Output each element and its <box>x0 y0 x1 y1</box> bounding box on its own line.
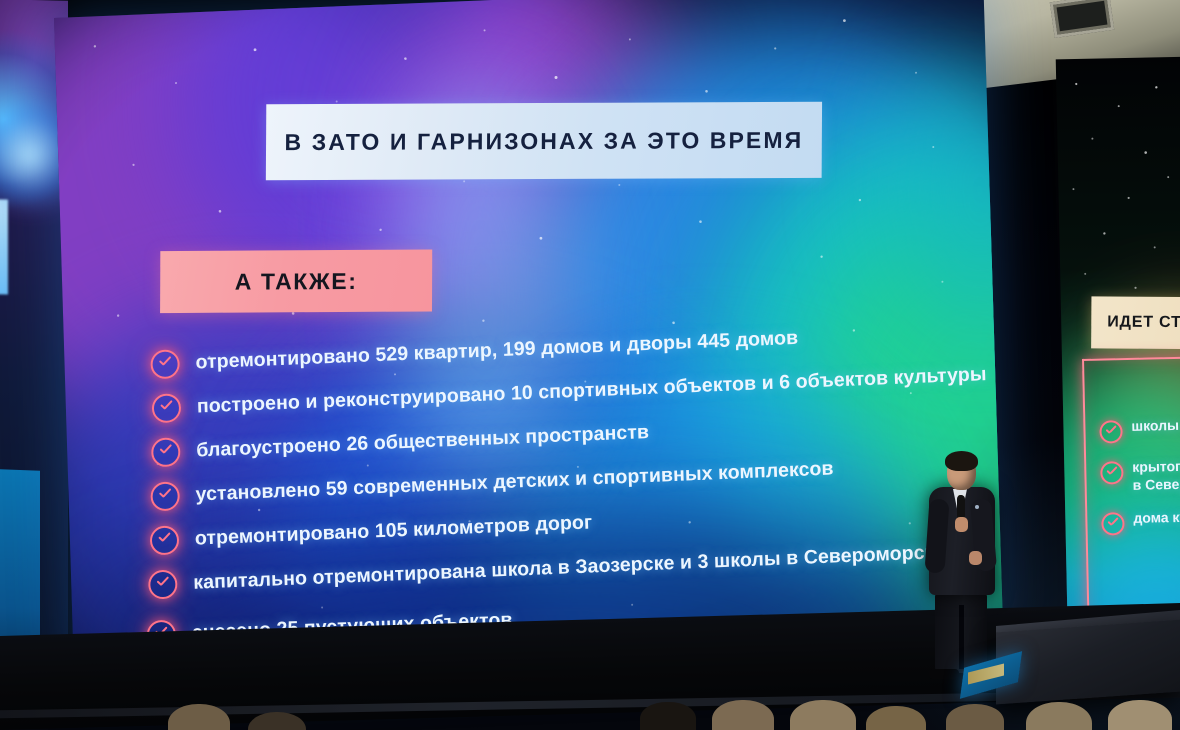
presenter-leg-gap <box>959 605 964 669</box>
audience-head <box>712 700 774 730</box>
right-screen-title-banner: ИДЕТ СТ <box>1091 296 1180 349</box>
audience-head <box>1108 700 1172 730</box>
list-item-label: школы в <box>1131 417 1180 436</box>
lapel-pin-icon <box>975 505 979 509</box>
check-circle-icon <box>150 481 180 511</box>
podium-body <box>996 620 1180 705</box>
check-circle-icon <box>152 393 182 423</box>
check-circle-icon <box>148 569 178 599</box>
presenter-hand <box>969 551 982 565</box>
check-circle-icon <box>1099 420 1122 443</box>
list-item-label: дома кул <box>1133 509 1180 528</box>
check-circle-icon <box>150 349 180 379</box>
right-screen-bullet-list: школы в крытого в Северо дома кул <box>1099 415 1180 552</box>
check-circle-icon <box>151 437 181 467</box>
slide-section-banner: А ТАКЖЕ: <box>160 249 432 313</box>
presenter-shoe <box>929 669 959 679</box>
slide-title-text: В ЗАТО И ГАРНИЗОНАХ ЗА ЭТО ВРЕМЯ <box>285 126 804 155</box>
main-presentation-screen: В ЗАТО И ГАРНИЗОНАХ ЗА ЭТО ВРЕМЯ А ТАКЖЕ… <box>54 0 1003 678</box>
right-screen-title-text: ИДЕТ СТ <box>1107 314 1180 333</box>
list-item: дома кул <box>1101 507 1180 536</box>
check-circle-icon <box>1101 512 1124 535</box>
slide-section-text: А ТАКЖЕ: <box>235 267 358 295</box>
list-item: крытого в Северо <box>1100 456 1180 495</box>
presenter-hand <box>955 517 968 532</box>
audience-head <box>640 702 696 730</box>
list-item-label: крытого в Северо <box>1132 458 1180 494</box>
slide-bullet-list: отремонтировано 529 квартир, 199 домов и… <box>150 312 959 659</box>
list-item: школы в <box>1099 415 1180 444</box>
audience-head <box>946 704 1004 730</box>
check-circle-icon <box>1100 461 1123 484</box>
left-panel-light-bar <box>0 199 8 294</box>
right-secondary-screen: ИДЕТ СТ школы в крытого в Северо дома ку… <box>1056 57 1180 660</box>
stage-scene: В ЗАТО И ГАРНИЗОНАХ ЗА ЭТО ВРЕМЯ А ТАКЖЕ… <box>0 0 1180 730</box>
list-item-label: благоустроено 26 общественных пространст… <box>196 420 649 462</box>
main-screen-surface: В ЗАТО И ГАРНИЗОНАХ ЗА ЭТО ВРЕМЯ А ТАКЖЕ… <box>54 0 1003 678</box>
slide-title-banner: В ЗАТО И ГАРНИЗОНАХ ЗА ЭТО ВРЕМЯ <box>266 102 822 180</box>
presenter-speaker <box>915 455 1005 685</box>
list-item-label: отремонтировано 105 километров дорог <box>195 511 593 550</box>
presenter-hair <box>945 451 978 471</box>
check-circle-icon <box>150 525 180 555</box>
